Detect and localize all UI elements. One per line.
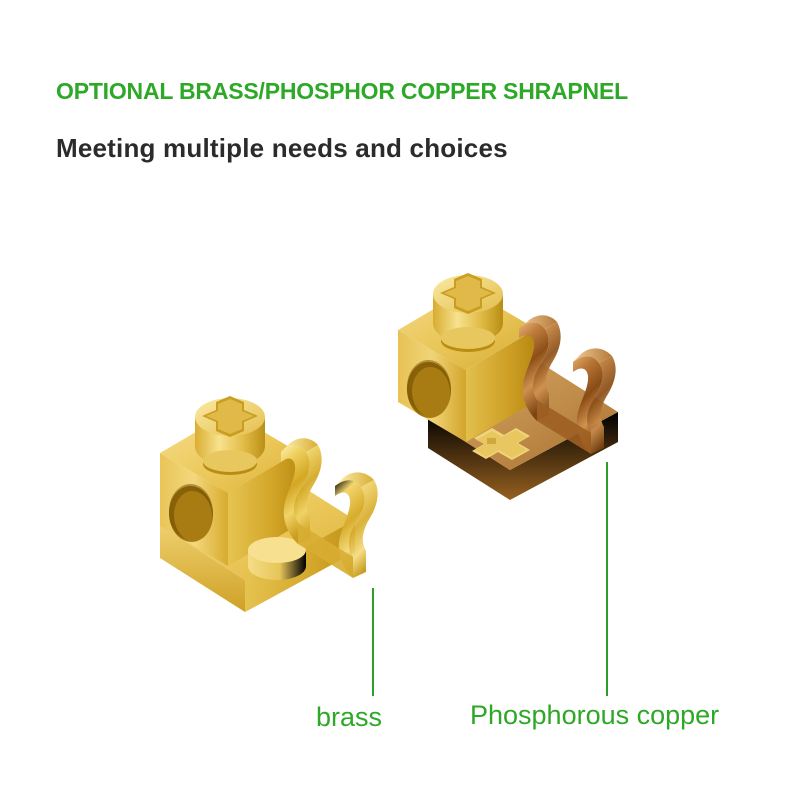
product-image-phosphorous-copper xyxy=(390,268,690,568)
leader-line-brass xyxy=(372,588,374,696)
product-feature-slide: OPTIONAL BRASS/PHOSPHOR COPPER SHRAPNEL … xyxy=(0,0,800,800)
page-headline: OPTIONAL BRASS/PHOSPHOR COPPER SHRAPNEL xyxy=(56,78,628,105)
copper-phillips-screw xyxy=(433,273,503,352)
brass-phillips-screw xyxy=(195,396,265,475)
brass-boss-stud xyxy=(248,537,306,580)
page-subheadline: Meeting multiple needs and choices xyxy=(56,133,508,164)
callout-label-phosphorous-copper: Phosphorous copper xyxy=(470,700,719,731)
callout-label-brass: brass xyxy=(316,702,382,733)
leader-line-copper xyxy=(606,462,608,696)
